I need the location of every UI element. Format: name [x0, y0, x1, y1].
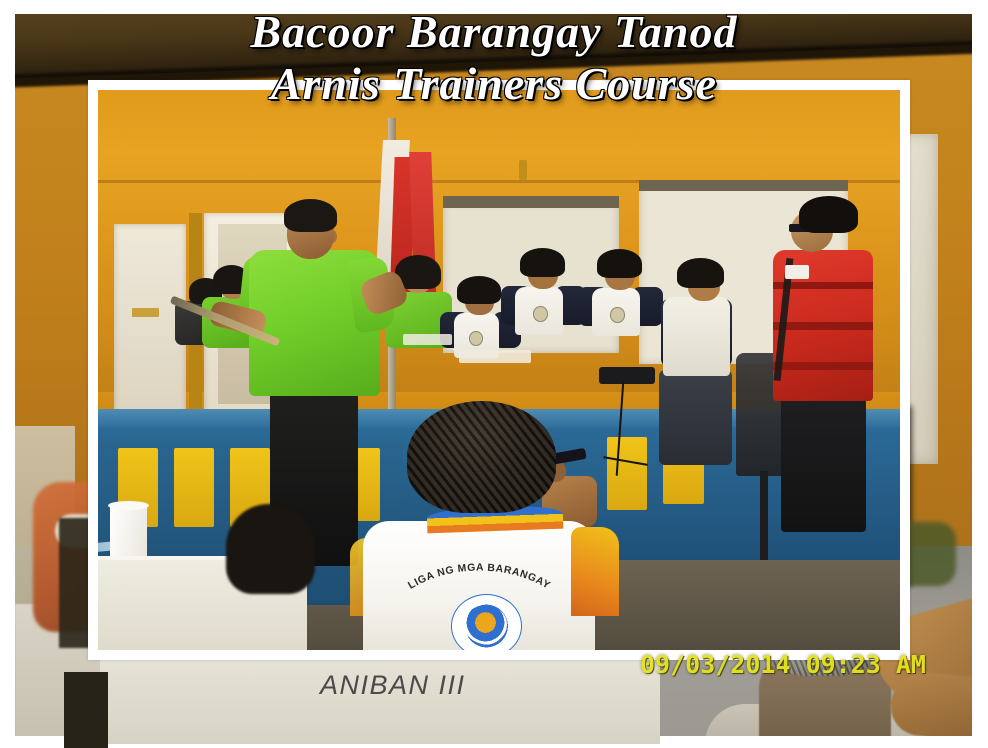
trainee-1-badge [469, 331, 483, 346]
officer-id-patch [785, 265, 809, 280]
trainee-2-badge [533, 306, 548, 321]
attendee-foreground-head [226, 504, 314, 594]
trainee-1-hair [457, 276, 500, 304]
camera-timestamp: 09/03/2014 09:23 AM [640, 650, 926, 679]
officer-red-stripe-2 [773, 322, 872, 330]
chair-leg [760, 471, 768, 561]
trainee-2-hair [520, 248, 565, 277]
jersey-man-hair-texture [407, 401, 556, 513]
door-plate-left [132, 308, 159, 317]
low-wall-panel-2 [174, 448, 214, 526]
microphone-base [599, 367, 655, 384]
counter-panel-6 [607, 437, 647, 510]
officer-hair [799, 196, 858, 233]
papers-left [403, 334, 453, 345]
window-blinds-left-rail [443, 196, 619, 207]
trainee-4-body [663, 297, 730, 375]
officer-red-stripe-3 [773, 362, 872, 370]
wall-mark [519, 160, 527, 180]
trainee-4-legs [659, 370, 731, 465]
aniban-sign-post [64, 672, 108, 748]
trainee-3-hair [597, 249, 642, 278]
paper-cup [110, 504, 147, 563]
speaker-hair [284, 199, 337, 231]
trainee-3-badge [610, 307, 625, 322]
main-photo: LIGA NG MGA BARANGAY [98, 90, 900, 650]
aniban-sign-text: ANIBAN III [320, 670, 466, 701]
paper-cup-rim [108, 501, 150, 510]
papers-center [459, 350, 531, 362]
officer-red-pants [781, 398, 866, 532]
jersey-text-liga: LIGA NG MGA BARANGAY [406, 563, 552, 592]
slide-canvas: ANIBAN III [0, 0, 988, 748]
window-blinds-right-rail [639, 180, 848, 191]
photo-frame: LIGA NG MGA BARANGAY [88, 80, 910, 660]
trainee-4-hair [677, 258, 724, 288]
